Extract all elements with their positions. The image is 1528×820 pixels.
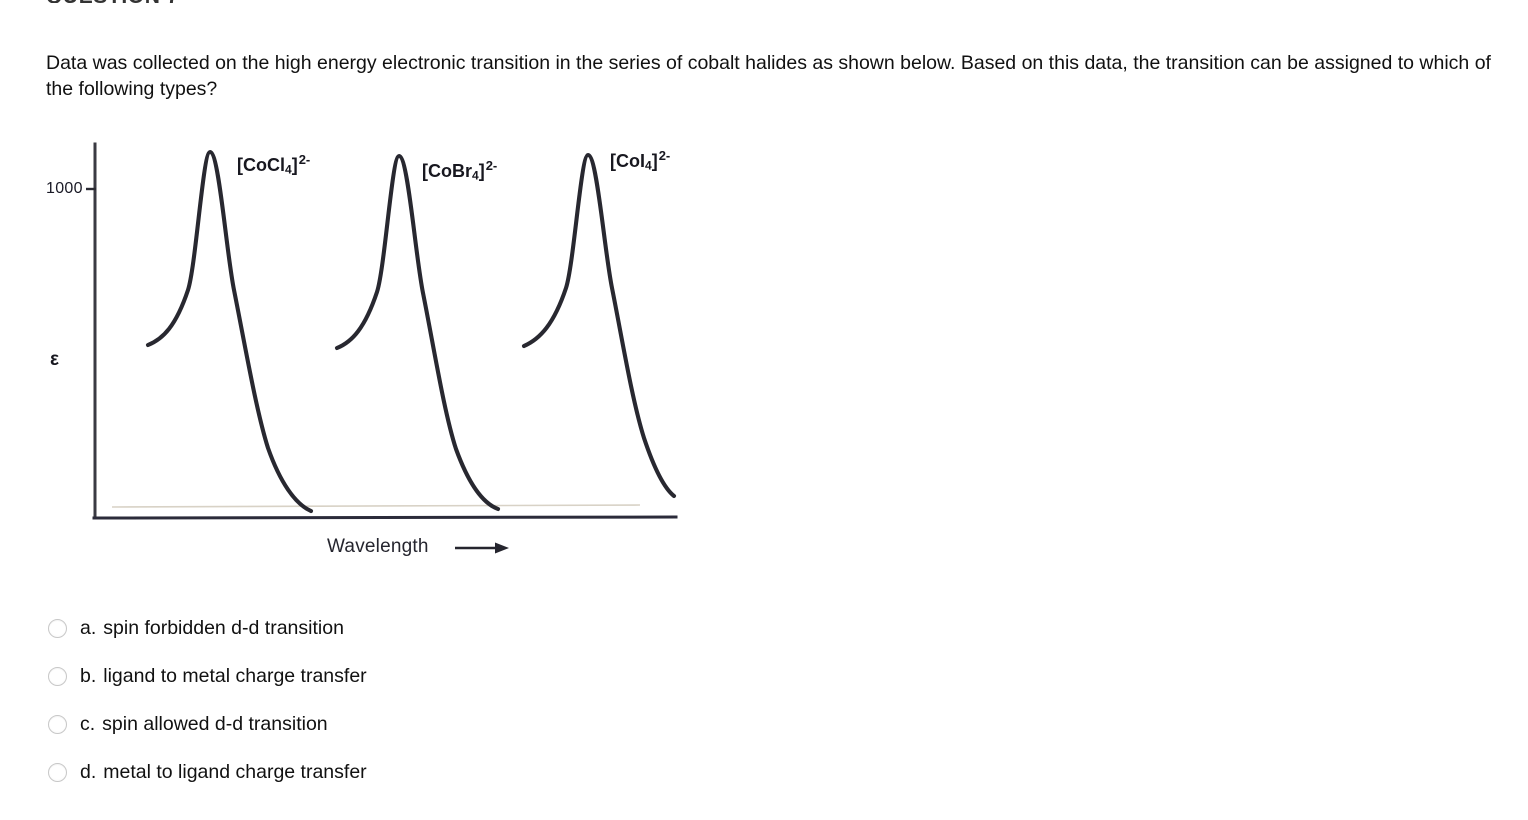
option-row-b[interactable]: b. ligand to metal charge transfer: [48, 652, 748, 700]
curve-label-coi4-formula: [CoI: [610, 151, 645, 171]
curve-label-cocl4-sub: 4: [285, 162, 292, 176]
radio-button-d[interactable]: [48, 763, 67, 782]
curve-label-coi4: [CoI4]2-: [610, 148, 670, 172]
answer-options: a. spin forbidden d-d transition b. liga…: [48, 604, 748, 796]
curve-label-coi4-bracket: ]: [652, 151, 658, 171]
option-row-d[interactable]: d. metal to ligand charge transfer: [48, 748, 748, 796]
radio-button-a[interactable]: [48, 619, 67, 638]
radio-button-c[interactable]: [48, 715, 67, 734]
curve-coi4: [524, 155, 674, 496]
wavelength-arrow-icon: [455, 543, 509, 554]
x-axis-label: Wavelength: [327, 536, 429, 558]
curve-label-coi4-charge: 2-: [659, 148, 671, 163]
curve-cocl4: [148, 152, 311, 511]
option-letter-a: a.: [80, 617, 96, 640]
radio-button-b[interactable]: [48, 667, 67, 686]
y-axis-tick-label: 1000: [46, 180, 83, 198]
curve-label-cocl4-bracket: ]: [292, 155, 298, 175]
curve-label-cobr4-charge: 2-: [486, 158, 498, 173]
option-row-a[interactable]: a. spin forbidden d-d transition: [48, 604, 748, 652]
y-axis-label: ε: [50, 349, 59, 371]
curve-label-cobr4-bracket: ]: [479, 161, 485, 181]
question-header: QUESTION 7: [46, 0, 179, 3]
option-letter-d: d.: [80, 761, 96, 784]
option-text-a: spin forbidden d-d transition: [103, 617, 344, 640]
option-letter-c: c.: [80, 713, 95, 736]
option-text-c: spin allowed d-d transition: [102, 713, 327, 736]
curve-label-cobr4: [CoBr4]2-: [422, 158, 497, 182]
option-text-d: metal to ligand charge transfer: [103, 761, 366, 784]
x-axis-line: [94, 517, 676, 518]
curve-label-cocl4: [CoCl4]2-: [237, 152, 310, 176]
option-row-c[interactable]: c. spin allowed d-d transition: [48, 700, 748, 748]
spectrum-svg: [0, 130, 760, 570]
curve-label-cocl4-charge: 2-: [299, 152, 311, 167]
option-letter-b: b.: [80, 665, 96, 688]
scan-artifact-line: [112, 505, 640, 507]
question-prompt: Data was collected on the high energy el…: [46, 50, 1496, 102]
curve-label-cocl4-formula: [CoCl: [237, 155, 285, 175]
spectrum-figure: 1000 ε Wavelength [CoCl4]2- [CoBr4]2- [C…: [0, 130, 760, 570]
curve-cobr4: [337, 156, 498, 509]
curve-label-cobr4-formula: [CoBr: [422, 161, 472, 181]
option-text-b: ligand to metal charge transfer: [103, 665, 366, 688]
curve-label-coi4-sub: 4: [645, 158, 652, 172]
curve-label-cobr4-sub: 4: [472, 168, 479, 182]
